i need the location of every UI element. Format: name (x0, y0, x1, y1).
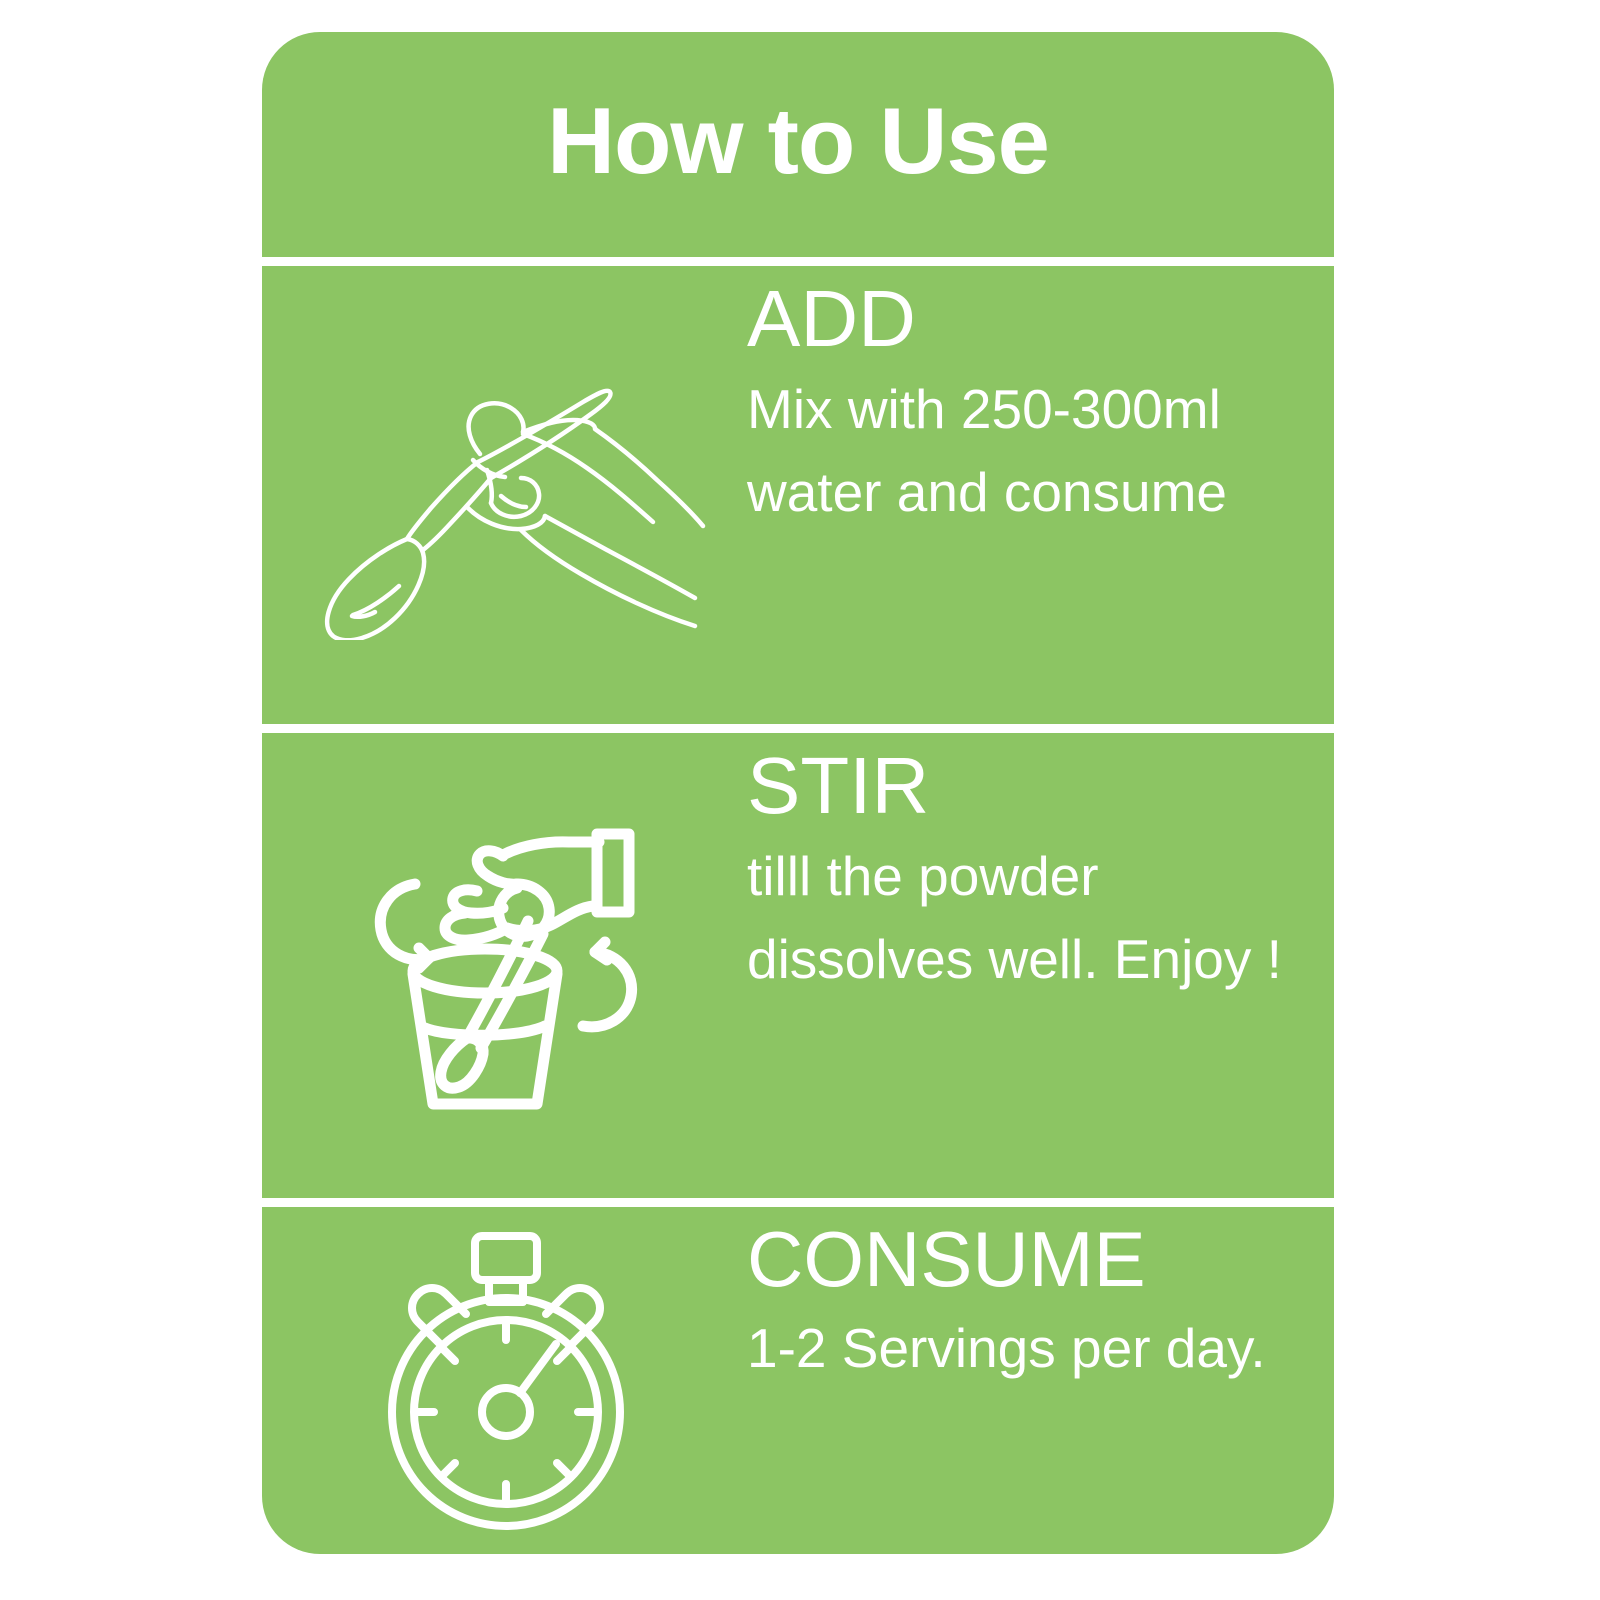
step-stir-text: STIR tilll the powder dissolves well. En… (747, 733, 1334, 1000)
step-add-text: ADD Mix with 250-300ml water and consume (747, 266, 1334, 533)
step-stir-body: tilll the powder dissolves well. Enjoy ! (747, 835, 1316, 1000)
step-consume: CONSUME 1-2 Servings per day. (262, 1207, 1334, 1554)
step-stir: STIR tilll the powder dissolves well. En… (262, 733, 1334, 1198)
step-stir-icon-wrap (262, 733, 747, 1173)
step-consume-text: CONSUME 1-2 Servings per day. (747, 1207, 1334, 1391)
divider-add-stir (262, 724, 1334, 733)
step-consume-icon-wrap (262, 1207, 747, 1547)
page-title: How to Use (547, 94, 1049, 196)
infographic-canvas: How to Use (0, 0, 1600, 1600)
hand-holding-spoon-icon (295, 350, 715, 640)
step-add-body: Mix with 250-300ml water and consume (747, 368, 1316, 533)
how-to-use-card: How to Use (262, 32, 1334, 1554)
step-consume-body: 1-2 Servings per day. (747, 1307, 1316, 1391)
stopwatch-icon (370, 1222, 640, 1532)
step-stir-heading: STIR (747, 747, 1316, 825)
hand-stirring-glass-icon (355, 788, 655, 1118)
card-header: How to Use (262, 32, 1334, 257)
step-add: ADD Mix with 250-300ml water and consume (262, 266, 1334, 724)
divider-stir-consume (262, 1198, 1334, 1207)
step-consume-heading: CONSUME (747, 1221, 1316, 1297)
divider-header (262, 257, 1334, 266)
step-add-icon-wrap (262, 266, 747, 724)
step-add-heading: ADD (747, 280, 1316, 358)
